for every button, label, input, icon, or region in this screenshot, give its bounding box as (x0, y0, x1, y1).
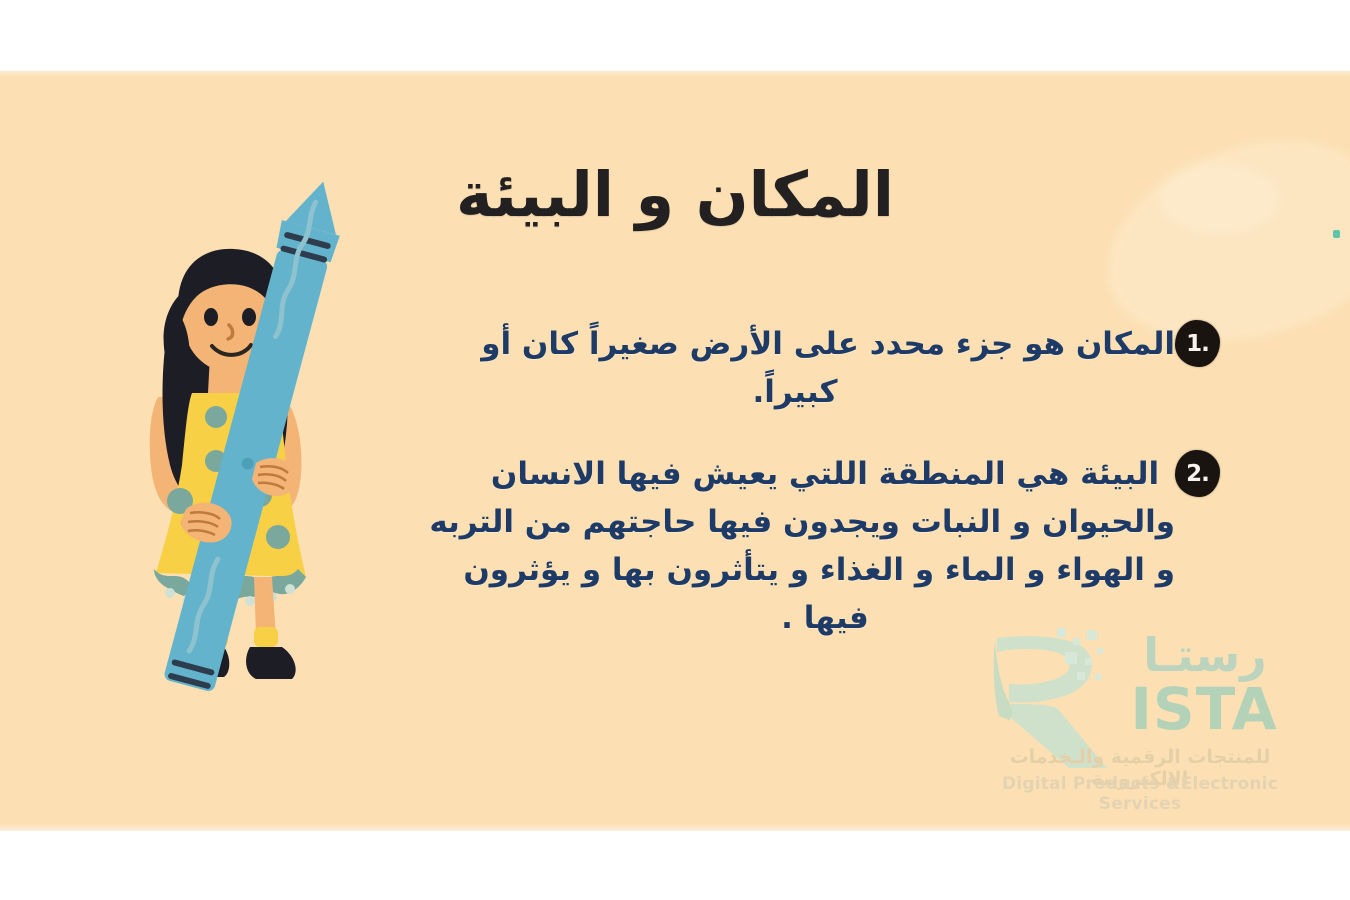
screenshot-canvas: المكان و البيئة 1. المكان هو جزء محدد عل… (0, 0, 1350, 900)
teal-accent-dot (1333, 230, 1340, 238)
bullet-1-line-1: المكان هو جزء محدد على الأرض صغيراً كان … (475, 320, 1175, 368)
bullet-item-1: 1. المكان هو جزء محدد على الأرض صغيراً ك… (0, 320, 1350, 416)
bullet-2-line-4: فيها . (475, 594, 1175, 642)
bullet-2-line-3: و الهواء و الماء و الغذاء و يتأثرون بها … (475, 546, 1175, 594)
bullet-number-badge-1: 1. (1175, 320, 1220, 367)
bullet-2-line-1: البيئة هي المنطقة اللتي يعيش فيها الانسا… (475, 450, 1175, 498)
bullet-item-2: 2. البيئة هي المنطقة اللتي يعيش فيها الا… (0, 450, 1350, 642)
slide-top-fade (0, 71, 1350, 77)
bullet-1-line-2: كبيراً. (475, 368, 1175, 416)
bullet-badge-wrap-1: 1. (1175, 320, 1350, 367)
bullet-list: 1. المكان هو جزء محدد على الأرض صغيراً ك… (0, 320, 1350, 676)
bullet-number-badge-2: 2. (1175, 450, 1220, 497)
slide-bottom-fade (0, 824, 1350, 831)
bullet-text-1: المكان هو جزء محدد على الأرض صغيراً كان … (475, 320, 1175, 416)
bullet-text-2: البيئة هي المنطقة اللتي يعيش فيها الانسا… (475, 450, 1175, 642)
slide-title: المكان و البيئة (0, 158, 1350, 231)
bullet-2-line-2: والحيوان و النبات ويجدون فيها حاجتهم من … (475, 498, 1175, 546)
bullet-badge-wrap-2: 2. (1175, 450, 1350, 497)
